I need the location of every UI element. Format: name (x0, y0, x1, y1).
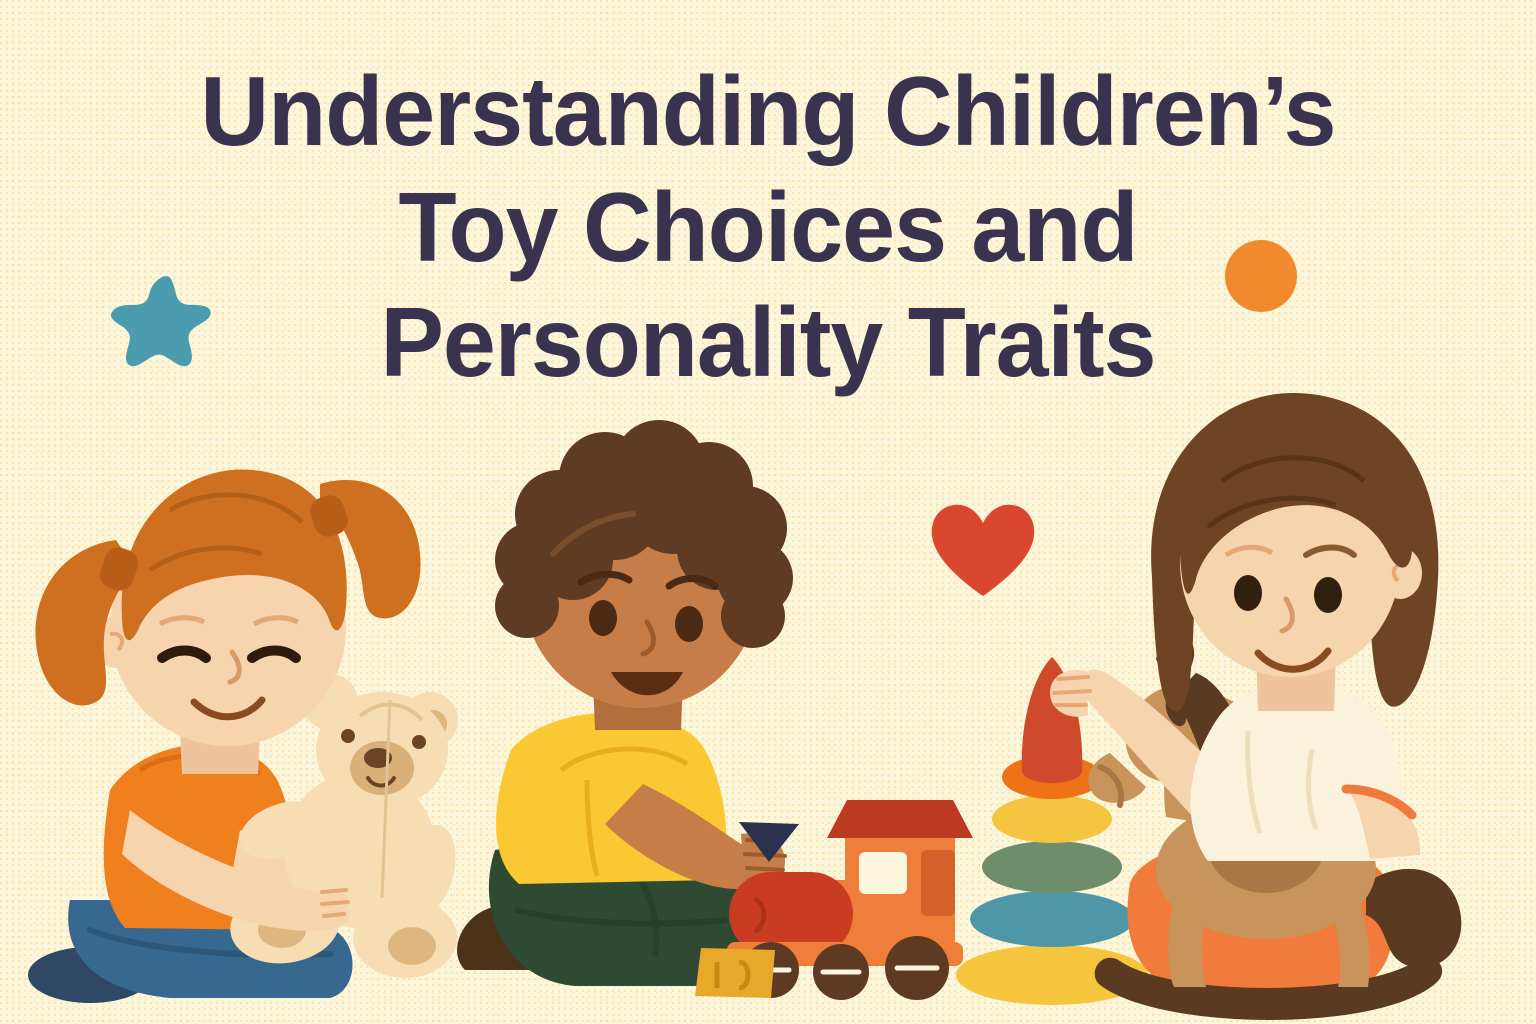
train-roof (827, 800, 973, 838)
wooden-block (695, 948, 775, 998)
ring-teal (970, 891, 1134, 947)
train-window (859, 852, 907, 894)
poster-canvas: Understanding Children’s Toy Choices and… (0, 0, 1536, 1024)
eye-right (675, 606, 703, 642)
ring-yellow (992, 795, 1112, 843)
eye-right (1314, 577, 1342, 613)
toy-train (695, 800, 973, 1000)
eye-left (589, 600, 617, 636)
ring-green (982, 841, 1122, 893)
child-boy-with-toy-train (455, 410, 975, 1024)
child-girl-with-rocking-horse (960, 385, 1530, 1024)
eye-left (1234, 575, 1262, 611)
page-title: Understanding Children’s Toy Choices and… (23, 54, 1513, 401)
